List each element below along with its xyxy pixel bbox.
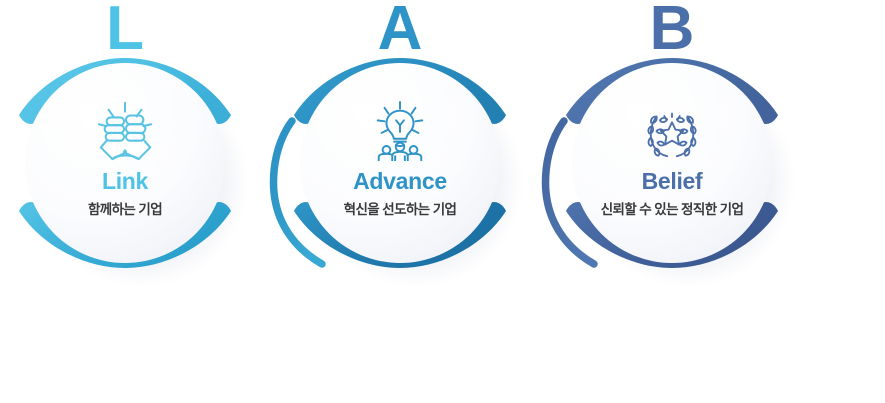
card-ring-link (0, 42, 255, 342)
infographic-canvas: L (0, 0, 885, 403)
value-card-belief[interactable]: B (542, 42, 802, 342)
card-disc-link (25, 63, 225, 263)
value-card-link[interactable]: L (0, 42, 255, 342)
card-disc-belief (572, 63, 772, 263)
card-ring-advance (270, 42, 530, 342)
card-disc-advance (300, 63, 500, 263)
card-ring-belief (542, 42, 802, 342)
value-card-advance[interactable]: A (270, 42, 530, 342)
